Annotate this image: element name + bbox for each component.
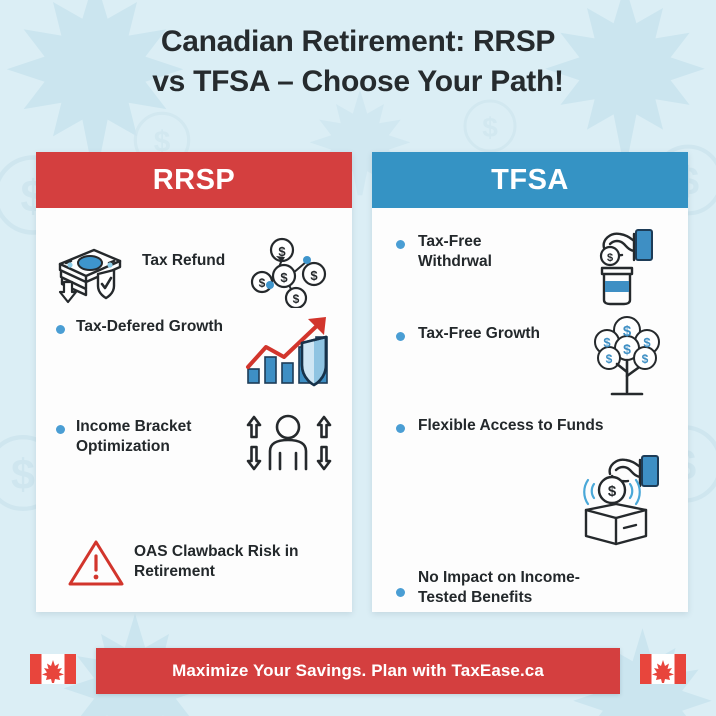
warning-triangle-icon	[66, 536, 126, 592]
svg-text:$: $	[623, 341, 631, 357]
rrsp-header-label: RRSP	[153, 164, 236, 197]
list-item-label: No Impact on Income-Tested Benefits	[418, 568, 598, 608]
bullet-icon	[56, 325, 65, 334]
coin-box-icon: $	[564, 452, 670, 548]
svg-text:$: $	[607, 252, 613, 264]
svg-text:$: $	[278, 244, 286, 259]
list-item-label: Tax-Free Withdrwal	[418, 232, 548, 272]
svg-text:$: $	[606, 352, 613, 366]
cash-shield-icon	[52, 234, 130, 304]
svg-text:$: $	[280, 270, 288, 285]
tfsa-card-header: TFSA	[372, 152, 688, 208]
svg-text:$: $	[310, 268, 318, 283]
svg-text:$: $	[293, 292, 300, 306]
infographic-poster: $ $ $ $ $ $ Canadian Retirement: RRSP vs…	[0, 0, 716, 716]
list-item-label: Flexible Access to Funds	[418, 416, 603, 436]
dollar-watermark: $	[460, 96, 520, 156]
list-item-label: OAS Clawback Risk in Retirement	[134, 542, 304, 582]
canada-flag-icon	[30, 654, 76, 684]
canada-flag-icon	[640, 654, 686, 684]
footer-cta-bar[interactable]: Maximize Your Savings. Plan with TaxEase…	[96, 648, 620, 694]
money-tree-icon: $ $ $ $ $ $	[584, 314, 670, 402]
bullet-icon	[56, 425, 65, 434]
hand-coin-jar-icon: $	[580, 220, 672, 308]
svg-text:$: $	[623, 323, 632, 340]
list-item-label: Income Bracket Optimization	[76, 417, 206, 457]
footer-banner: Maximize Your Savings. Plan with TaxEase…	[24, 648, 692, 694]
rrsp-card-body: Tax Refund	[36, 208, 352, 612]
rrsp-card: RRSP	[36, 152, 352, 612]
page-title: Canadian Retirement: RRSP vs TFSA – Choo…	[0, 22, 716, 102]
svg-text:$: $	[482, 112, 498, 143]
footer-cta-label: Maximize Your Savings. Plan with TaxEase…	[172, 661, 544, 681]
svg-text:$: $	[11, 451, 35, 499]
svg-text:$: $	[643, 335, 651, 350]
svg-text:$: $	[259, 276, 266, 290]
growth-chart-shield-icon	[240, 313, 336, 391]
dollar-network-icon: $ $ $ $ $	[248, 230, 334, 308]
tfsa-header-label: TFSA	[491, 164, 569, 197]
bullet-icon	[396, 424, 405, 433]
tfsa-card: TFSA Tax-Free Withdrwal	[372, 152, 688, 612]
svg-text:$: $	[608, 483, 617, 500]
title-line-2: vs TFSA – Choose Your Path!	[40, 62, 676, 102]
list-item-label: Tax-Free Growth	[418, 324, 540, 344]
svg-text:$: $	[642, 352, 649, 366]
tfsa-card-body: Tax-Free Withdrwal $	[372, 208, 688, 612]
title-line-1: Canadian Retirement: RRSP	[161, 25, 555, 58]
svg-text:$: $	[603, 335, 611, 350]
bullet-icon	[396, 588, 405, 597]
list-item-label: Tax-Defered Growth	[76, 317, 223, 337]
list-item-label: Tax Refund	[142, 251, 225, 271]
income-bracket-person-icon	[234, 413, 342, 477]
bullet-icon	[396, 240, 405, 249]
bullet-icon	[396, 332, 405, 341]
rrsp-card-header: RRSP	[36, 152, 352, 208]
